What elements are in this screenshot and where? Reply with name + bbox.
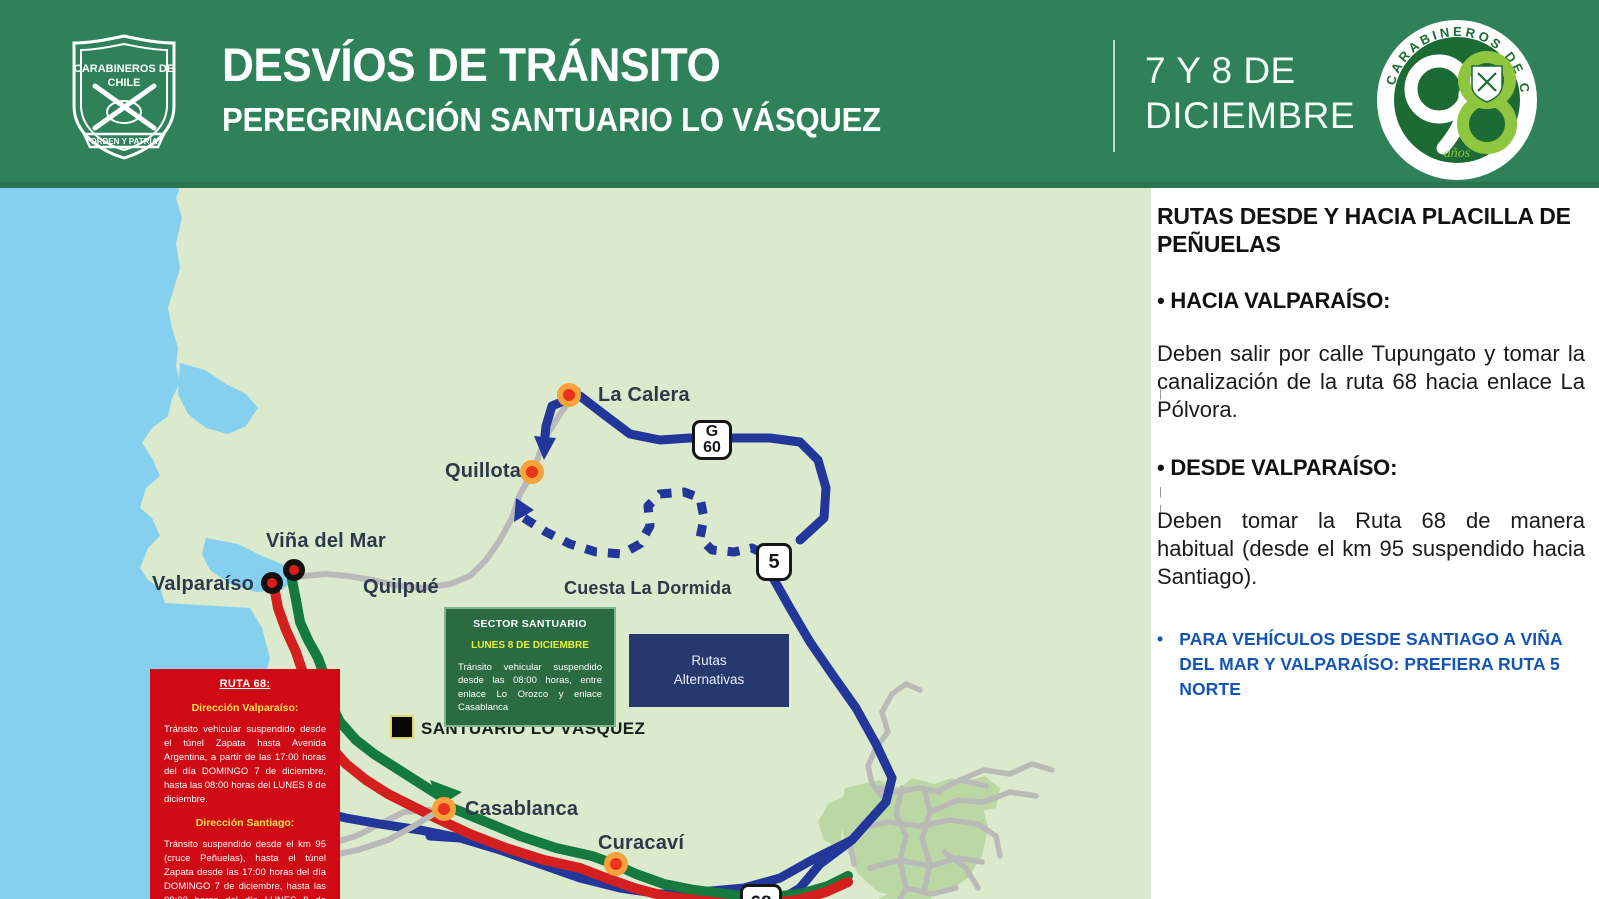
svg-text:ORDEN Y PATRIA: ORDEN Y PATRIA <box>91 137 158 146</box>
panel-body-desde: Deben tomar la Ruta 68 de manera habitua… <box>1157 507 1585 591</box>
page-subtitle: PEREGRINACIÓN SANTUARIO LO VÁSQUEZ <box>222 102 1002 138</box>
map-label-casablanca: Casablanca <box>465 798 578 821</box>
ruta68-body-santiago: Tránsito suspendido desde el km 95 (cruc… <box>164 838 326 899</box>
shield-68: 68 <box>740 884 782 899</box>
svg-text:CARABINEROS DE: CARABINEROS DE <box>74 63 174 75</box>
shield-g60-line2: 60 <box>703 440 721 456</box>
panel-bullet-desde: • DESDE VALPARAÍSO: <box>1157 455 1585 481</box>
ruta68-body-valparaiso: Tránsito vehicular suspendido desde el t… <box>164 723 326 807</box>
header-date-line1: 7 Y 8 DE <box>1145 48 1375 93</box>
panel-body-hacia: Deben salir por calle Tupungato y tomar … <box>1157 340 1585 424</box>
panel-heading: RUTAS DESDE Y HACIA PLACILLA DE PEÑUELAS <box>1157 202 1585 258</box>
shield-g60-line1: G <box>706 424 718 440</box>
page-header: CARABINEROS DE CHILE ORDEN Y PATRIA DESV… <box>0 0 1599 188</box>
shield-68-label: 68 <box>750 894 771 899</box>
map-label-quillota: Quillota <box>445 460 521 483</box>
carabineros-98-anniversary-logo-icon: CARABINEROS DE CHILE ORDEN Y PATRIA <box>1371 14 1543 186</box>
city-marker-quillota[interactable] <box>520 460 544 484</box>
shield-5: 5 <box>756 543 792 581</box>
panel-bullet-hacia: • HACIA VALPARAÍSO: <box>1157 288 1585 314</box>
map-label-vina-del-mar: Viña del Mar <box>266 530 386 553</box>
info-panel: | | | RUTAS DESDE Y HACIA PLACILLA DE PE… <box>1129 188 1599 899</box>
info-box-ruta-68: RUTA 68: Dirección Valparaíso: Tránsito … <box>150 669 340 899</box>
page-title: DESVÍOS DE TRÁNSITO <box>222 40 1002 91</box>
ruta68-title: RUTA 68: <box>164 678 326 690</box>
header-divider <box>1113 40 1115 152</box>
city-marker-valparaiso[interactable] <box>261 572 283 594</box>
city-marker-casablanca[interactable] <box>432 797 456 821</box>
info-box-sector-santuario: SECTOR SANTUARIO LUNES 8 DE DICIEMBRE Tr… <box>444 607 616 727</box>
header-date-line2: DICIEMBRE <box>1145 93 1375 138</box>
map-label-quilpue: Quilpué <box>363 576 439 599</box>
map-label-curacavi: Curacaví <box>598 832 684 855</box>
header-titles: DESVÍOS DE TRÁNSITO PEREGRINACIÓN SANTUA… <box>222 40 1052 138</box>
map-label-la-calera: La Calera <box>598 384 690 407</box>
legend-alternativas-line2: Alternativas <box>674 671 745 689</box>
map-label-cuesta-la-dormida: Cuesta La Dormida <box>564 578 731 599</box>
city-marker-vina-del-mar[interactable] <box>283 559 305 581</box>
ruta68-sub-valparaiso: Dirección Valparaíso: <box>164 702 326 714</box>
panel-note: • PARA VEHÍCULOS DESDE SANTIAGO A VIÑA D… <box>1157 627 1585 702</box>
header-date: 7 Y 8 DE DICIEMBRE <box>1145 48 1375 138</box>
legend-rutas-alternativas: Rutas Alternativas <box>629 634 789 707</box>
sector-santuario-date: LUNES 8 DE DICIEMBRE <box>458 640 602 651</box>
shield-5-label: 5 <box>768 552 779 572</box>
panel-note-bullet: • <box>1157 627 1163 702</box>
logo-anos-text: años <box>1444 146 1471 161</box>
legend-alternativas-line1: Rutas <box>674 652 745 670</box>
ruta68-sub-santiago: Dirección Santiago: <box>164 817 326 829</box>
map-canvas[interactable]: La Calera Quillota Viña del Mar Valparaí… <box>0 188 1129 899</box>
map-label-valparaiso: Valparaíso <box>152 573 254 596</box>
sector-santuario-title: SECTOR SANTUARIO <box>458 618 602 630</box>
carabineros-crest-icon: CARABINEROS DE CHILE ORDEN Y PATRIA <box>62 32 186 160</box>
city-marker-curacavi[interactable] <box>604 852 628 876</box>
panel-note-text: PARA VEHÍCULOS DESDE SANTIAGO A VIÑA DEL… <box>1179 627 1585 702</box>
shield-g60: G 60 <box>692 420 732 460</box>
panel-left-stripe <box>1129 188 1151 899</box>
sector-santuario-body: Tránsito vehicular suspendido desde las … <box>458 661 602 715</box>
city-marker-la-calera[interactable] <box>557 383 581 407</box>
svg-text:CHILE: CHILE <box>108 77 141 89</box>
santuario-lo-vasquez-marker[interactable] <box>390 715 414 739</box>
